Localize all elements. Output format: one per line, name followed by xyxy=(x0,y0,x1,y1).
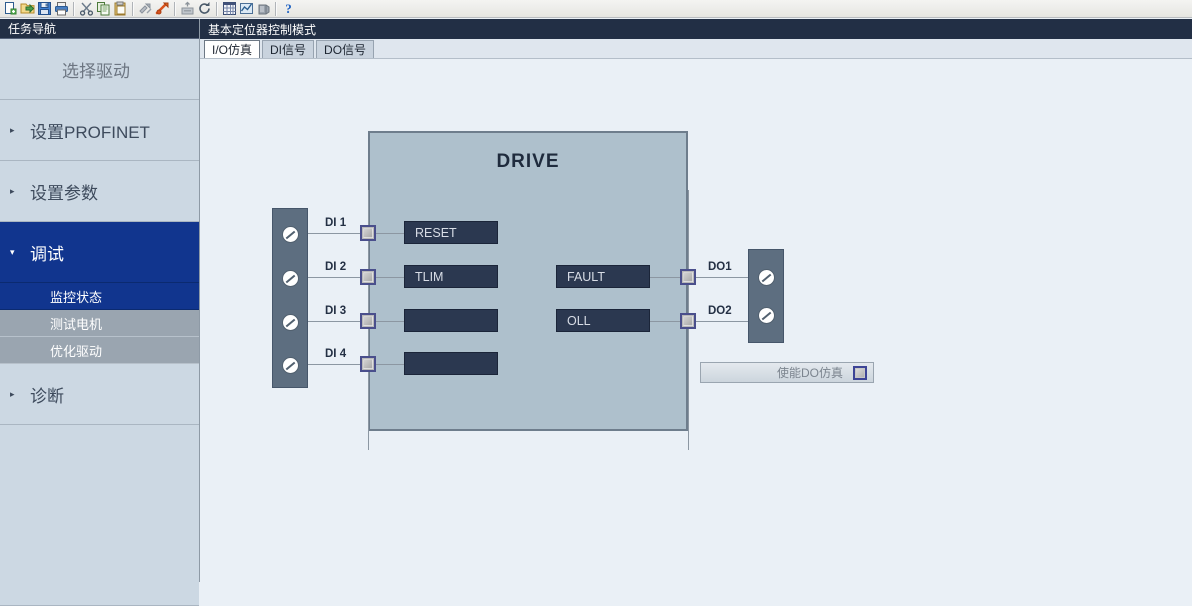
signal-box-do2[interactable]: OLL xyxy=(556,309,650,332)
download-to-device-icon[interactable] xyxy=(137,0,154,17)
pin-label-di1: DI 1 xyxy=(325,217,346,229)
wire-di4-right xyxy=(376,364,406,365)
task-navigation-sidebar: 任务导航 选择驱动 ▸ 设置PROFINET ▸ 设置参数 ▾ 调试 监控状态 … xyxy=(0,19,200,582)
screw-terminal-di3[interactable] xyxy=(282,314,299,331)
toolbar-separator xyxy=(216,2,218,16)
print-icon[interactable] xyxy=(53,0,70,17)
signal-box-di1[interactable]: RESET xyxy=(404,221,498,244)
switch-di4[interactable] xyxy=(360,356,376,372)
signal-box-do1[interactable]: FAULT xyxy=(556,265,650,288)
enable-do-simulation-checkbox-icon[interactable] xyxy=(853,366,867,380)
toolbar-separator xyxy=(73,2,75,16)
enable-do-simulation-button[interactable]: 使能DO仿真 xyxy=(700,362,874,383)
switch-di2[interactable] xyxy=(360,269,376,285)
sidebar-item-label: 设置PROFINET xyxy=(26,118,150,143)
paste-icon[interactable] xyxy=(112,0,129,17)
wire-do1-right xyxy=(696,277,750,278)
sidebar-item-set-parameters[interactable]: ▸ 设置参数 xyxy=(0,161,199,222)
new-document-icon[interactable] xyxy=(2,0,19,17)
wire-do2-left xyxy=(650,321,680,322)
cut-icon[interactable] xyxy=(78,0,95,17)
sidebar-item-label: 调试 xyxy=(26,240,64,265)
switch-do2[interactable] xyxy=(680,313,696,329)
screw-terminal-di2[interactable] xyxy=(282,270,299,287)
main-toolbar: ? xyxy=(0,0,1192,18)
upload-from-device-icon[interactable] xyxy=(154,0,171,17)
io-simulation-diagram: DRIVE DI 1 RESET DI 2 TLIM xyxy=(200,60,1192,582)
switch-do1[interactable] xyxy=(680,269,696,285)
chevron-right-icon: ▸ xyxy=(10,389,26,400)
panel-title: 基本定位器控制模式 xyxy=(200,19,1192,39)
enable-do-simulation-label: 使能DO仿真 xyxy=(777,364,843,381)
tab-di-signals[interactable]: DI信号 xyxy=(262,40,314,58)
switch-di3[interactable] xyxy=(360,313,376,329)
toolbar-separator xyxy=(132,2,134,16)
device-icon[interactable] xyxy=(255,0,272,17)
pin-label-di4: DI 4 xyxy=(325,348,346,360)
wire-do2-right xyxy=(696,321,750,322)
drive-label: DRIVE xyxy=(368,151,688,173)
refresh-icon[interactable] xyxy=(196,0,213,17)
sidebar-subitem-optimize-drive[interactable]: 优化驱动 xyxy=(0,337,199,364)
wire-di1-left xyxy=(308,233,368,234)
pin-label-di2: DI 2 xyxy=(325,261,346,273)
sidebar-empty-area xyxy=(0,425,199,606)
do-terminal-block xyxy=(748,249,784,343)
sidebar-item-select-drive[interactable]: 选择驱动 xyxy=(0,39,199,100)
load-to-filesystem-icon[interactable] xyxy=(179,0,196,17)
screw-terminal-di4[interactable] xyxy=(282,357,299,374)
pin-label-do1: DO1 xyxy=(708,261,732,273)
pin-label-di3: DI 3 xyxy=(325,305,346,317)
chevron-right-icon: ▸ xyxy=(10,125,26,136)
open-folder-icon[interactable] xyxy=(19,0,36,17)
sidebar-item-set-profinet[interactable]: ▸ 设置PROFINET xyxy=(0,100,199,161)
wire-di1-right xyxy=(376,233,406,234)
wire-di2-right xyxy=(376,277,406,278)
tab-io-simulation[interactable]: I/O仿真 xyxy=(204,40,260,58)
pin-label-do2: DO2 xyxy=(708,305,732,317)
signal-box-di4[interactable] xyxy=(404,352,498,375)
di-terminal-block xyxy=(272,208,308,388)
help-icon-label: ? xyxy=(285,2,292,15)
wire-di4-left xyxy=(308,364,368,365)
sidebar-subitem-test-motor[interactable]: 测试电机 xyxy=(0,310,199,337)
save-icon[interactable] xyxy=(36,0,53,17)
screw-terminal-do2[interactable] xyxy=(758,307,775,324)
sidebar-item-label: 选择驱动 xyxy=(10,57,130,82)
signal-box-di3[interactable] xyxy=(404,309,498,332)
application-window: ? 任务导航 选择驱动 ▸ 设置PROFINET ▸ 设置参数 ▾ 调试 监控状… xyxy=(0,0,1192,582)
help-icon[interactable]: ? xyxy=(280,0,297,17)
sidebar-subitem-monitor-status[interactable]: 监控状态 xyxy=(0,283,199,310)
sidebar-item-label: 诊断 xyxy=(26,382,64,407)
sidebar-item-label: 设置参数 xyxy=(26,179,98,204)
sidebar-header: 任务导航 xyxy=(0,19,199,39)
wire-do1-left xyxy=(650,277,680,278)
toolbar-separator xyxy=(174,2,176,16)
sidebar-item-diagnostics[interactable]: ▸ 诊断 xyxy=(0,364,199,425)
screw-terminal-di1[interactable] xyxy=(282,226,299,243)
tab-do-signals[interactable]: DO信号 xyxy=(316,40,374,58)
wire-di3-left xyxy=(308,321,368,322)
copy-icon[interactable] xyxy=(95,0,112,17)
wire-di3-right xyxy=(376,321,406,322)
switch-di1[interactable] xyxy=(360,225,376,241)
main-panel: 基本定位器控制模式 I/O仿真 DI信号 DO信号 DRIVE DI 1 xyxy=(200,19,1192,582)
chevron-down-icon: ▾ xyxy=(10,247,26,258)
sidebar-item-commissioning[interactable]: ▾ 调试 xyxy=(0,222,199,283)
signal-box-di2[interactable]: TLIM xyxy=(404,265,498,288)
toolbar-separator xyxy=(275,2,277,16)
wire-di2-left xyxy=(308,277,368,278)
screw-terminal-do1[interactable] xyxy=(758,269,775,286)
parameter-table-icon[interactable] xyxy=(221,0,238,17)
chevron-right-icon: ▸ xyxy=(10,186,26,197)
trace-chart-icon[interactable] xyxy=(238,0,255,17)
tab-bar: I/O仿真 DI信号 DO信号 xyxy=(200,39,1192,59)
